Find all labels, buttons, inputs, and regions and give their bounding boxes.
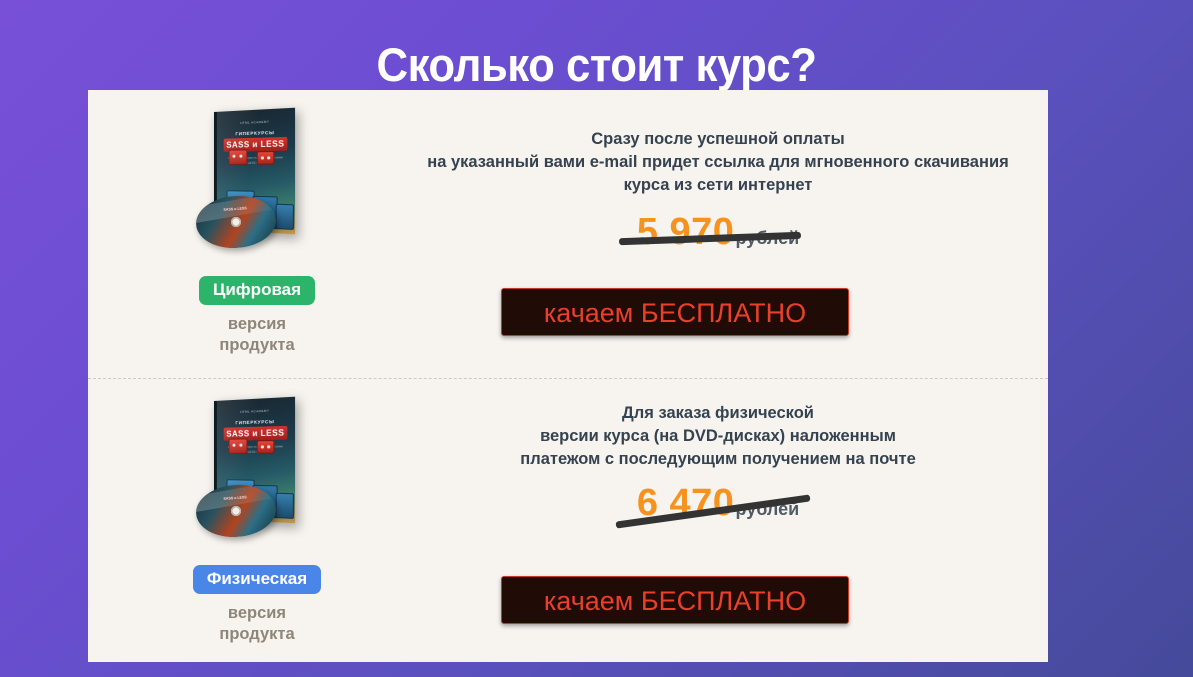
box-kicker: ГИПЕРКУРСЫ xyxy=(217,418,295,426)
robot-body-small xyxy=(276,493,294,519)
robot-eye xyxy=(261,156,264,159)
download-free-button-physical[interactable]: качаем БЕСПЛАТНО xyxy=(501,576,849,624)
offer-row-digital: HTML ACADEMY ГИПЕРКУРСЫ SASS и LESS инте… xyxy=(88,90,1048,378)
box-kicker: ГИПЕРКУРСЫ xyxy=(217,129,295,137)
version-label-physical: версия продукта xyxy=(112,603,402,645)
dvd-disc-icon: SASS и LESS xyxy=(194,482,277,539)
product-column-digital: HTML ACADEMY ГИПЕРКУРСЫ SASS и LESS инте… xyxy=(112,90,402,378)
download-free-button-digital[interactable]: качаем БЕСПЛАТНО xyxy=(501,288,849,336)
price-block-digital: 5 970рублей xyxy=(629,211,807,254)
robot-eye xyxy=(232,155,235,158)
box-top-text: HTML ACADEMY xyxy=(217,118,295,125)
robot-body-small xyxy=(276,204,294,230)
robot-head-medium xyxy=(257,440,275,454)
robot-eye xyxy=(267,445,270,448)
offer-description-physical: Для заказа физической версии курса (на D… xyxy=(388,379,1048,471)
robot-eye xyxy=(239,444,242,447)
robot-head-large xyxy=(229,149,248,165)
offer-description-digital: Сразу после успешной оплаты на указанный… xyxy=(388,90,1048,197)
pricing-card: HTML ACADEMY ГИПЕРКУРСЫ SASS и LESS инте… xyxy=(88,90,1048,662)
product-column-physical: HTML ACADEMY ГИПЕРКУРСЫ SASS и LESS инте… xyxy=(112,379,402,667)
robot-eye xyxy=(232,444,235,447)
product-image-physical: HTML ACADEMY ГИПЕРКУРСЫ SASS и LESS инте… xyxy=(182,401,332,551)
badge-digital: Цифровая xyxy=(199,276,315,305)
box-subtitle: интенсивный курс по препроцессорам SASS … xyxy=(227,155,285,165)
info-column-digital: Сразу после успешной оплаты на указанный… xyxy=(388,90,1048,378)
pricing-page: Сколько стоит курс? HTML ACADEMY ГИПЕРКУ… xyxy=(0,0,1193,677)
price-amount-digital: 5 970 xyxy=(637,211,735,253)
page-title: Сколько стоит курс? xyxy=(42,37,1151,92)
offer-row-physical: HTML ACADEMY ГИПЕРКУРСЫ SASS и LESS инте… xyxy=(88,379,1048,667)
version-label-digital: версия продукта xyxy=(112,314,402,356)
robot-head-large xyxy=(229,438,248,454)
dvd-disc-icon: SASS и LESS xyxy=(194,193,277,250)
box-title: SASS и LESS xyxy=(224,137,288,152)
box-subtitle: интенсивный курс по препроцессорам SASS … xyxy=(227,444,285,454)
box-title: SASS и LESS xyxy=(224,426,288,441)
price-block-physical: 6 470рублей xyxy=(629,482,807,525)
robot-eye xyxy=(239,155,242,158)
robot-head-medium xyxy=(257,151,275,165)
info-column-physical: Для заказа физической версии курса (на D… xyxy=(388,379,1048,667)
badge-physical: Физическая xyxy=(193,565,321,594)
box-top-text: HTML ACADEMY xyxy=(217,407,295,414)
product-image-digital: HTML ACADEMY ГИПЕРКУРСЫ SASS и LESS инте… xyxy=(182,112,332,262)
robot-eye xyxy=(261,445,264,448)
robot-eye xyxy=(267,156,270,159)
